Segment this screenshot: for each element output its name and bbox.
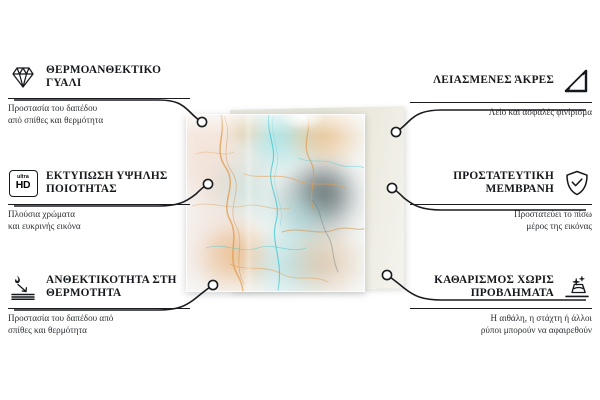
feature-protective-membrane[interactable]: ΠΡΟΣΤΑΤΕΥΤΙΚΗ ΜΕΜΒΡΑΝΗ Προστατεύει το πί… <box>410 166 592 232</box>
feature-title: ΠΡΟΣΤΑΤΕΥΤΙΚΗ ΜΕΜΒΡΑΝΗ <box>410 170 554 197</box>
feature-title: ΛΕΙΑΣΜΕΝΕΣ ΆΚΡΕΣ <box>410 74 554 87</box>
feature-description: Προστασία του δαπέδου απόσπίθες και θερμ… <box>8 313 190 336</box>
feature-heading: ΠΡΟΣΤΑΤΕΥΤΙΚΗ ΜΕΜΒΡΑΝΗ <box>410 166 592 200</box>
feature-title: ΑΝΘΕΚΤΙΚΟΤΗΤΑ ΣΤΗ ΘΕΡΜΟΤΗΤΑ <box>46 274 190 301</box>
feature-heading: ΑΝΘΕΚΤΙΚΟΤΗΤΑ ΣΤΗ ΘΕΡΜΟΤΗΤΑ <box>8 270 190 304</box>
ultra-hd-icon-bottom-label: HD <box>16 181 31 191</box>
polished-edges-icon <box>562 66 592 96</box>
feature-divider <box>8 308 190 309</box>
feature-divider <box>410 204 592 205</box>
feature-description: Η αιθάλη, η στάχτη ή άλλοιρύποι μπορούν … <box>410 313 592 336</box>
feature-divider <box>410 102 592 103</box>
feature-description: Προστατεύει το πίσωμέρος της εικόνας <box>410 209 592 232</box>
feature-title: ΕΚΤΥΠΩΣΗ ΥΨΗΛΗΣ ΠΟΙΟΤΗΤΑΣ <box>46 170 190 197</box>
infographic-canvas: ΘΕΡΜΟΑΝΘΕΚΤΙΚΟ ΓΥΑΛΙ Προστασία του δαπέδ… <box>0 0 600 400</box>
feature-easy-cleaning[interactable]: ΚΑΘΑΡΙΣΜΟΣ ΧΩΡΙΣ ΠΡΟΒΛΗΜΑΤΑ Η αιθάλη, η … <box>410 270 592 336</box>
feature-heading: ΘΕΡΜΟΑΝΘΕΚΤΙΚΟ ΓΥΑΛΙ <box>8 60 190 94</box>
feature-heat-resistant-glass[interactable]: ΘΕΡΜΟΑΝΘΕΚΤΙΚΟ ΓΥΑΛΙ Προστασία του δαπέδ… <box>8 60 190 126</box>
feature-heat-durability[interactable]: ΑΝΘΕΚΤΙΚΟΤΗΤΑ ΣΤΗ ΘΕΡΜΟΤΗΤΑ Προστασία το… <box>8 270 190 336</box>
ultra-hd-icon: ultra HD <box>8 168 38 198</box>
feature-title: ΘΕΡΜΟΑΝΘΕΚΤΙΚΟ ΓΥΑΛΙ <box>46 64 190 91</box>
shield-check-icon <box>562 168 592 198</box>
easy-clean-icon <box>562 272 592 302</box>
feature-divider <box>410 308 592 309</box>
feature-description: Πλούσια χρώματακαι ευκρινής εικόνα <box>8 209 190 232</box>
feature-description: Προστασία του δαπέδουαπό σπίθες και θερμ… <box>8 103 190 126</box>
product-glass-panel <box>186 114 365 292</box>
feature-polished-edges[interactable]: ΛΕΙΑΣΜΕΝΕΣ ΆΚΡΕΣ Λείο και ασφαλές φινίρι… <box>410 64 592 119</box>
feature-heading: ΛΕΙΑΣΜΕΝΕΣ ΆΚΡΕΣ <box>410 64 592 98</box>
feature-high-quality-print[interactable]: ultra HD ΕΚΤΥΠΩΣΗ ΥΨΗΛΗΣ ΠΟΙΟΤΗΤΑΣ Πλούσ… <box>8 166 190 232</box>
diamond-icon <box>8 62 38 92</box>
feature-divider <box>8 204 190 205</box>
product-image <box>186 108 404 293</box>
feature-description: Λείο και ασφαλές φινίρισμα <box>410 107 592 119</box>
feature-divider <box>8 98 190 99</box>
feature-heading: ΚΑΘΑΡΙΣΜΟΣ ΧΩΡΙΣ ΠΡΟΒΛΗΜΑΤΑ <box>410 270 592 304</box>
heat-resistance-icon <box>8 272 38 302</box>
feature-heading: ultra HD ΕΚΤΥΠΩΣΗ ΥΨΗΛΗΣ ΠΟΙΟΤΗΤΑΣ <box>8 166 190 200</box>
feature-title: ΚΑΘΑΡΙΣΜΟΣ ΧΩΡΙΣ ΠΡΟΒΛΗΜΑΤΑ <box>410 274 554 301</box>
artwork-ink-veins <box>186 114 365 292</box>
